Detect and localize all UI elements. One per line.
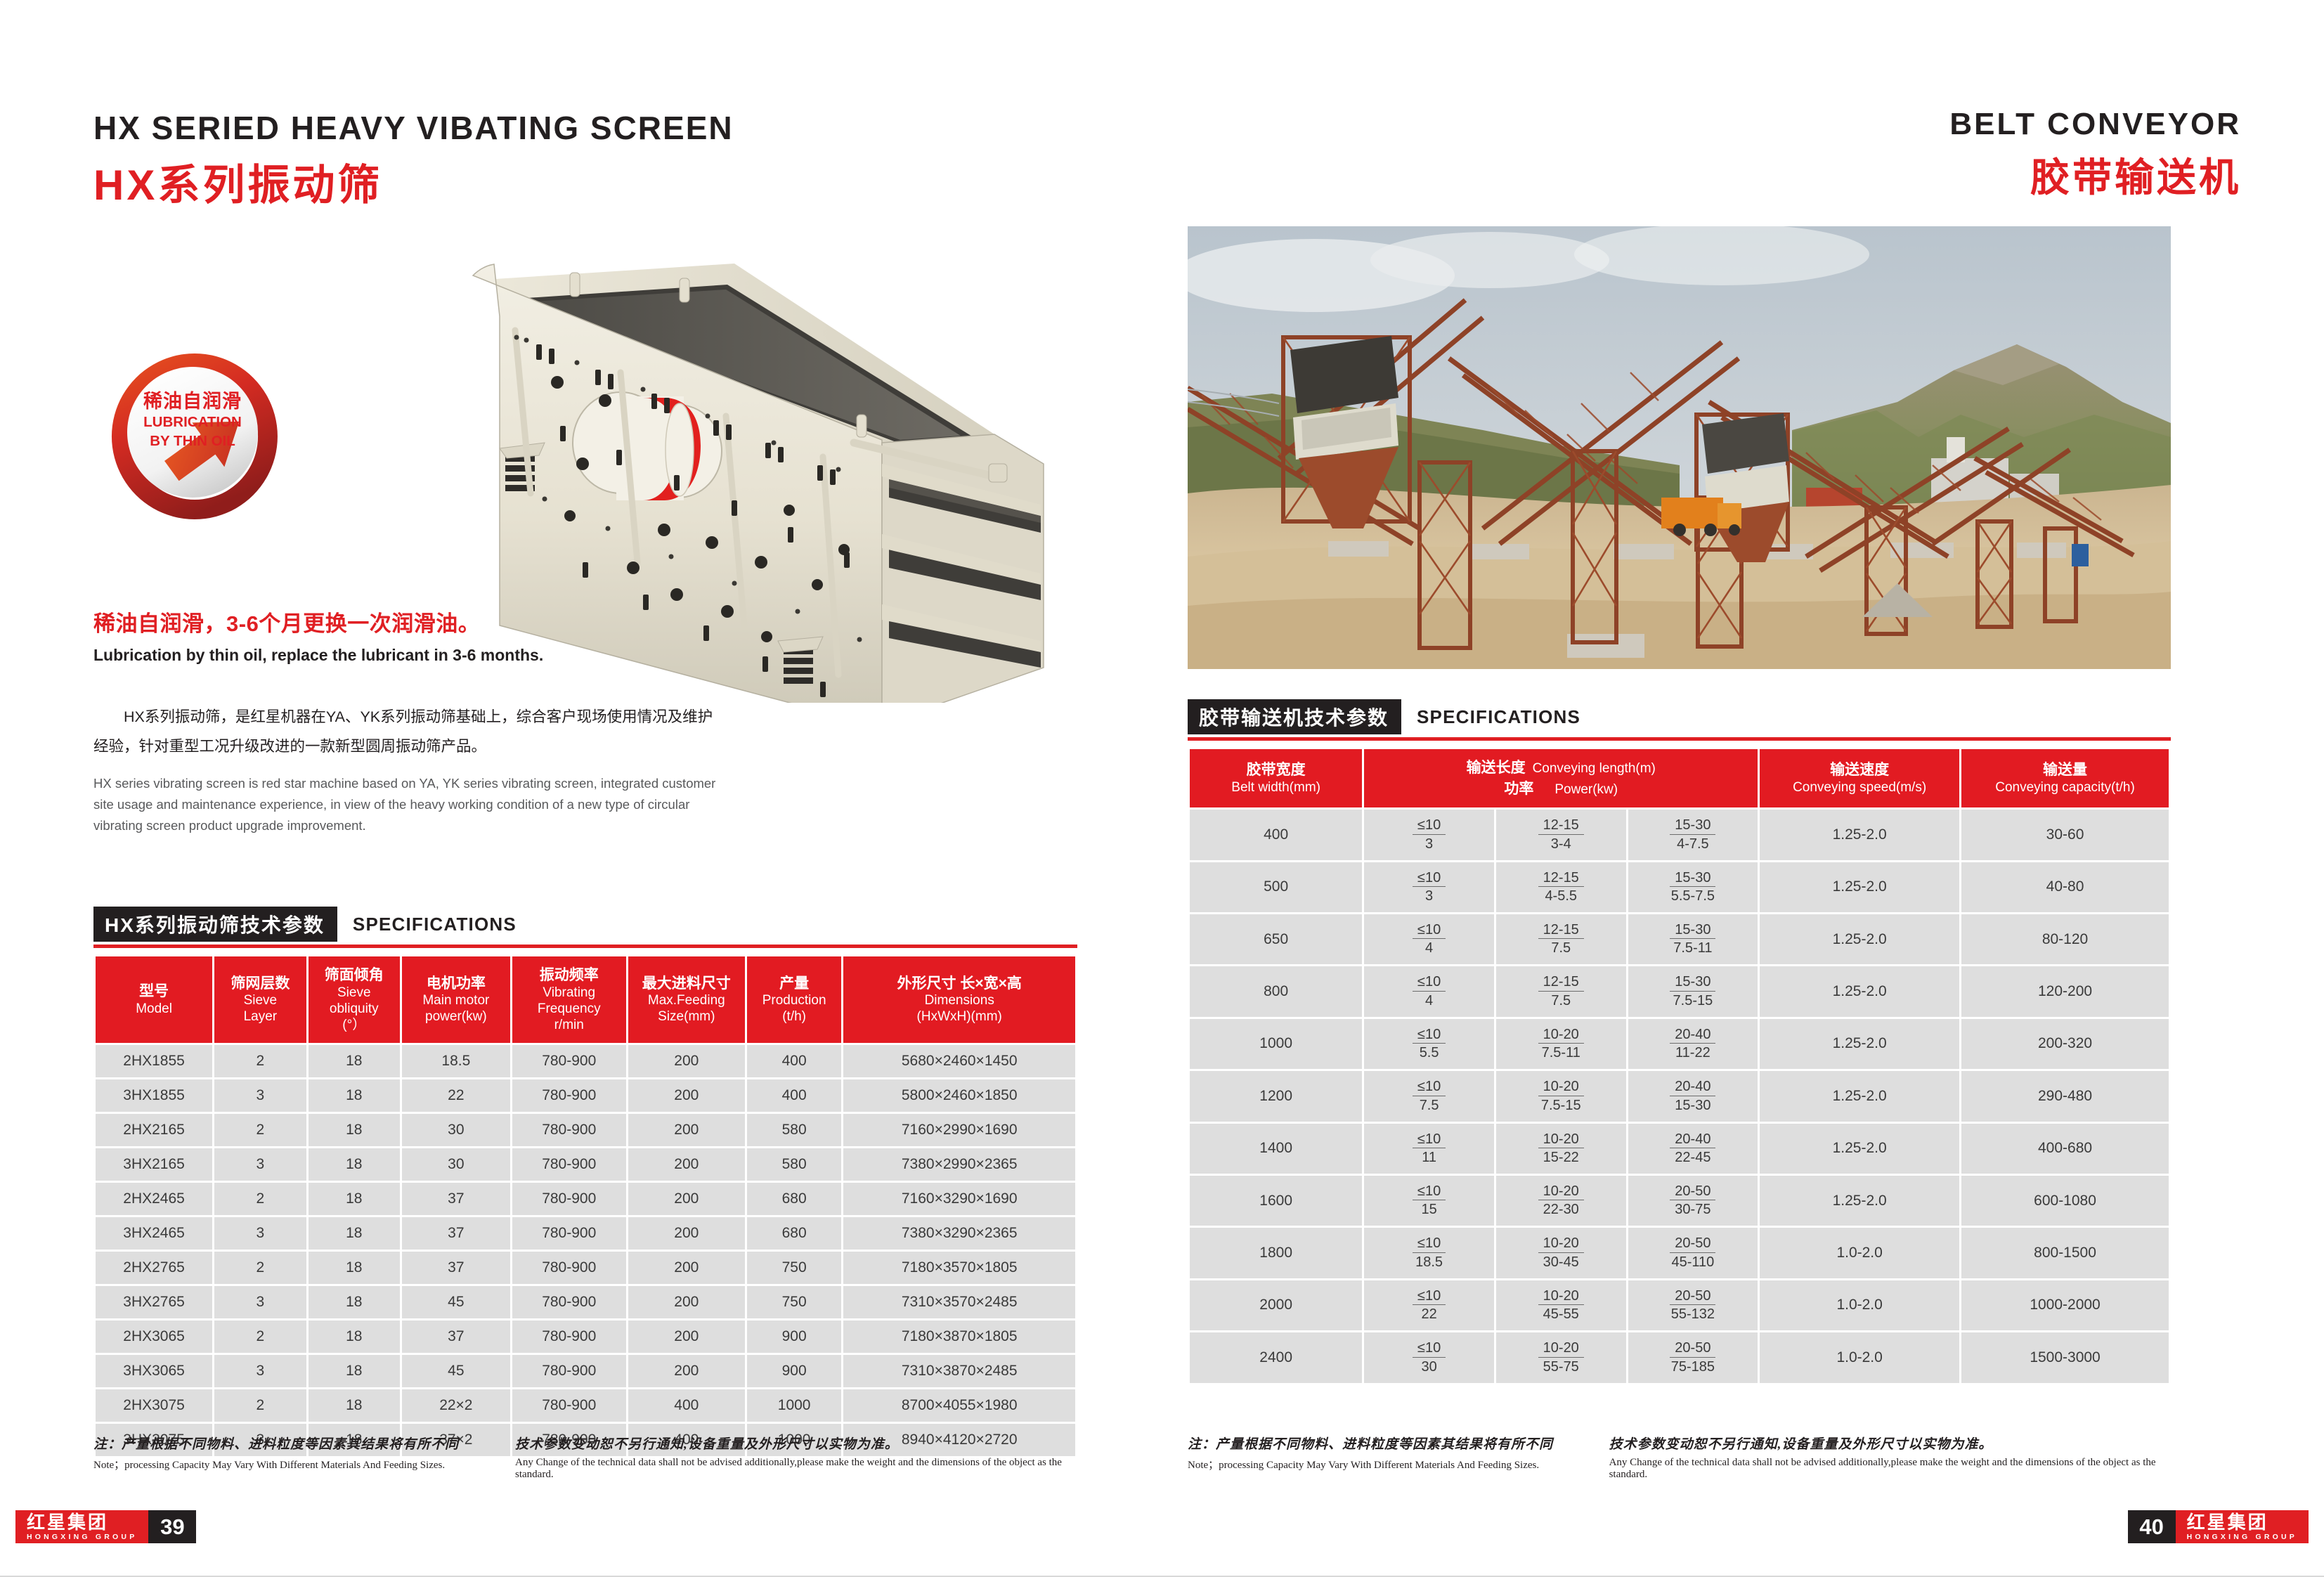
table-cell-capacity: 600-1080	[1961, 1176, 2169, 1226]
table-cell: 900	[747, 1320, 842, 1353]
table-cell: 3	[214, 1148, 306, 1181]
table-body: 400≤10312-153-415-304-7.51.25-2.030-6050…	[1190, 810, 2169, 1382]
col-header-vibrating-frequency: 振动频率 Vibrating Frequency r/min	[512, 956, 626, 1043]
right-page-heading: BELT CONVEYOR 胶带输送机	[1949, 107, 2241, 203]
table-cell: 18.5	[402, 1045, 510, 1077]
table-row: 2400≤103010-2055-7520-5075-1851.0-2.0150…	[1190, 1332, 2169, 1382]
table-cell: 22	[402, 1079, 510, 1112]
table-row: 2HX306521837780-9002009007180×3870×1805	[96, 1320, 1075, 1353]
table-cell: 3HX2165	[96, 1148, 212, 1181]
table-cell: 780-900	[512, 1355, 626, 1387]
table-cell: 18	[309, 1045, 400, 1077]
footer-logo-right: 40 红星集团 HONGXING GROUP	[2128, 1510, 2309, 1543]
table-row: 3HX276531845780-9002007507310×3570×2485	[96, 1286, 1075, 1318]
table-cell-fraction: 20-5075-185	[1628, 1332, 1758, 1382]
table-cell: 7380×2990×2365	[843, 1148, 1075, 1181]
table-row: 800≤10412-157.515-307.5-151.25-2.0120-20…	[1190, 966, 2169, 1016]
section-title-chinese: HX系列振动筛技术参数	[93, 907, 337, 942]
table-cell-fraction: 10-2022-30	[1496, 1176, 1626, 1226]
table-cell-fraction: 20-5045-110	[1628, 1228, 1758, 1278]
table-row: 1200≤107.510-207.5-1520-4015-301.25-2.02…	[1190, 1071, 2169, 1121]
table-body: 2HX185521818.5780-9002004005680×2460×145…	[96, 1045, 1075, 1456]
table-cell: 780-900	[512, 1217, 626, 1250]
belt-conveyor-site-photo	[1188, 226, 2171, 669]
table-cell: 3HX2765	[96, 1286, 212, 1318]
table-cell: 7160×3290×1690	[843, 1183, 1075, 1215]
table-cell: 750	[747, 1252, 842, 1284]
table-cell: 37	[402, 1217, 510, 1250]
table-cell-speed: 1.25-2.0	[1760, 914, 1959, 964]
lubrication-badge: 稀油自润滑 LUBRICATION BY THIN OIL	[105, 348, 285, 524]
table-cell: 200	[628, 1252, 745, 1284]
table-cell-fraction: ≤1015	[1364, 1176, 1494, 1226]
table-cell-belt-width: 1600	[1190, 1176, 1362, 1226]
table-cell-fraction: 10-207.5-15	[1496, 1071, 1626, 1121]
note-technical-data: 技术参数变动恕不另行通知,设备重量及外形尺寸以实物为准。 Any Change …	[1609, 1434, 2171, 1481]
table-header-row: 型号 Model 筛网层数 Sieve Layer 筛面倾角 Sieve obl…	[96, 956, 1075, 1043]
table-cell: 22×2	[402, 1389, 510, 1422]
table-cell: 18	[309, 1252, 400, 1284]
table-cell: 200	[628, 1217, 745, 1250]
section-banner: 胶带输送机技术参数 SPECIFICATIONS	[1188, 699, 2171, 734]
table-cell-fraction: 12-157.5	[1496, 914, 1626, 964]
page-left-vibrating-screen: HX SERIED HEAVY VIBATING SCREEN HX系列振动筛	[0, 0, 1162, 1577]
table-cell-speed: 1.25-2.0	[1760, 1176, 1959, 1226]
note-capacity: 注：产量根据不同物料、进料粒度等因素其结果将有所不同 Note；processi…	[1188, 1434, 1609, 1481]
table-cell-fraction: ≤1030	[1364, 1332, 1494, 1382]
table-cell: 18	[309, 1148, 400, 1181]
table-cell: 18	[309, 1320, 400, 1353]
table-row: 400≤10312-153-415-304-7.51.25-2.030-60	[1190, 810, 2169, 859]
belt-conveyor-spec-table: 胶带宽度 Belt width(mm) 输送长度 Conveying lengt…	[1188, 747, 2171, 1385]
table-cell: 2	[214, 1252, 306, 1284]
table-cell: 780-900	[512, 1114, 626, 1146]
table-header-row: 胶带宽度 Belt width(mm) 输送长度 Conveying lengt…	[1190, 749, 2169, 807]
col-header-max-feeding-size: 最大进料尺寸 Max.Feeding Size(mm)	[628, 956, 745, 1043]
table-cell: 18	[309, 1079, 400, 1112]
table-cell: 1000	[747, 1389, 842, 1422]
table-cell-belt-width: 500	[1190, 862, 1362, 912]
table-cell-fraction: 10-2015-22	[1496, 1124, 1626, 1174]
slogan-english: Lubrication by thin oil, replace the lub…	[93, 646, 761, 665]
table-cell-speed: 1.0-2.0	[1760, 1280, 1959, 1330]
right-notes: 注：产量根据不同物料、进料粒度等因素其结果将有所不同 Note；processi…	[1188, 1434, 2171, 1481]
table-cell-capacity: 1000-2000	[1961, 1280, 2169, 1330]
table-cell-fraction: 10-2055-75	[1496, 1332, 1626, 1382]
page-right-belt-conveyor: BELT CONVEYOR 胶带输送机	[1162, 0, 2324, 1577]
table-cell: 18	[309, 1355, 400, 1387]
table-cell: 200	[628, 1148, 745, 1181]
table-cell-fraction: 10-2045-55	[1496, 1280, 1626, 1330]
table-cell: 37	[402, 1320, 510, 1353]
table-cell: 7310×3870×2485	[843, 1355, 1075, 1387]
table-cell: 2	[214, 1320, 306, 1353]
table-cell: 18	[309, 1217, 400, 1250]
table-cell-fraction: ≤104	[1364, 966, 1494, 1016]
table-cell: 2HX2765	[96, 1252, 212, 1284]
table-cell: 8700×4055×1980	[843, 1389, 1075, 1422]
table-cell-belt-width: 400	[1190, 810, 1362, 859]
table-row: 2HX276521837780-9002007507180×3570×1805	[96, 1252, 1075, 1284]
table-cell-fraction: ≤107.5	[1364, 1071, 1494, 1121]
table-cell-speed: 1.0-2.0	[1760, 1332, 1959, 1382]
table-cell-belt-width: 1000	[1190, 1019, 1362, 1069]
table-cell: 400	[628, 1389, 745, 1422]
table-cell-belt-width: 2400	[1190, 1332, 1362, 1382]
table-cell: 2HX3075	[96, 1389, 212, 1422]
section-title-english: SPECIFICATIONS	[337, 907, 517, 942]
table-cell: 3	[214, 1355, 306, 1387]
col-header-conveying-capacity: 输送量 Conveying capacity(t/h)	[1961, 749, 2169, 807]
right-spec-section: 胶带输送机技术参数 SPECIFICATIONS 胶带宽度 Belt width…	[1188, 699, 2171, 1385]
description-chinese: HX系列振动筛，是红星机器在YA、YK系列振动筛基础上，综合客户现场使用情况及维…	[93, 703, 726, 762]
table-cell: 200	[628, 1114, 745, 1146]
table-cell: 37	[402, 1252, 510, 1284]
table-cell: 200	[628, 1355, 745, 1387]
col-header-production: 产量 Production (t/h)	[747, 956, 842, 1043]
table-cell: 2HX2465	[96, 1183, 212, 1215]
table-cell-fraction: 10-207.5-11	[1496, 1019, 1626, 1069]
table-cell-capacity: 1500-3000	[1961, 1332, 2169, 1382]
table-cell-fraction: 20-4011-22	[1628, 1019, 1758, 1069]
table-cell: 45	[402, 1286, 510, 1318]
table-cell: 7160×2990×1690	[843, 1114, 1075, 1146]
table-cell: 2HX2165	[96, 1114, 212, 1146]
table-row: 2HX216521830780-9002005807160×2990×1690	[96, 1114, 1075, 1146]
table-cell-fraction: ≤1018.5	[1364, 1228, 1494, 1278]
table-cell: 30	[402, 1148, 510, 1181]
table-row: 2HX185521818.5780-9002004005680×2460×145…	[96, 1045, 1075, 1077]
table-cell: 7380×3290×2365	[843, 1217, 1075, 1250]
table-cell: 780-900	[512, 1183, 626, 1215]
table-cell: 37	[402, 1183, 510, 1215]
table-cell: 580	[747, 1148, 842, 1181]
section-title-chinese: 胶带输送机技术参数	[1188, 699, 1401, 734]
vibrating-screen-spec-table: 型号 Model 筛网层数 Sieve Layer 筛面倾角 Sieve obl…	[93, 954, 1077, 1458]
table-row: 1800≤1018.510-2030-4520-5045-1101.0-2.08…	[1190, 1228, 2169, 1278]
table-cell-fraction: ≤104	[1364, 914, 1494, 964]
table-cell: 2HX1855	[96, 1045, 212, 1077]
page-title-chinese: HX系列振动筛	[93, 151, 734, 212]
table-cell: 3HX1855	[96, 1079, 212, 1112]
table-cell-fraction: 20-5030-75	[1628, 1176, 1758, 1226]
table-cell: 3	[214, 1286, 306, 1318]
table-cell: 3	[214, 1217, 306, 1250]
page-number: 40	[2128, 1510, 2176, 1543]
catalog-spread: HX SERIED HEAVY VIBATING SCREEN HX系列振动筛	[0, 0, 2324, 1577]
table-cell-fraction: 12-157.5	[1496, 966, 1626, 1016]
page-title-english: BELT CONVEYOR	[1949, 107, 2241, 142]
table-row: 650≤10412-157.515-307.5-111.25-2.080-120	[1190, 914, 2169, 964]
table-cell-fraction: ≤105.5	[1364, 1019, 1494, 1069]
table-cell: 200	[628, 1183, 745, 1215]
table-cell: 18	[309, 1389, 400, 1422]
table-cell-capacity: 30-60	[1961, 810, 2169, 859]
table-cell: 400	[747, 1045, 842, 1077]
table-cell-belt-width: 1200	[1190, 1071, 1362, 1121]
table-cell: 30	[402, 1114, 510, 1146]
table-cell: 200	[628, 1286, 745, 1318]
left-notes: 注：产量根据不同物料、进料粒度等因素其结果将有所不同 Note；processi…	[93, 1434, 1077, 1481]
col-header-sieve-layer: 筛网层数 Sieve Layer	[214, 956, 306, 1043]
table-cell: 2	[214, 1045, 306, 1077]
table-cell-fraction: 12-153-4	[1496, 810, 1626, 859]
table-cell-speed: 1.25-2.0	[1760, 1071, 1959, 1121]
description-english: HX series vibrating screen is red star m…	[93, 773, 736, 836]
table-cell: 7180×3870×1805	[843, 1320, 1075, 1353]
table-cell: 580	[747, 1114, 842, 1146]
table-row: 1400≤101110-2015-2220-4022-451.25-2.0400…	[1190, 1124, 2169, 1174]
table-row: 2HX246521837780-9002006807160×3290×1690	[96, 1183, 1075, 1215]
page-title-english: HX SERIED HEAVY VIBATING SCREEN	[93, 109, 734, 147]
table-cell-fraction: 10-2030-45	[1496, 1228, 1626, 1278]
table-row: 3HX185531822780-9002004005800×2460×1850	[96, 1079, 1075, 1112]
table-cell-speed: 1.0-2.0	[1760, 1228, 1959, 1278]
table-cell: 780-900	[512, 1079, 626, 1112]
table-cell: 200	[628, 1079, 745, 1112]
table-cell-fraction: 12-154-5.5	[1496, 862, 1626, 912]
table-row: 3HX246531837780-9002006807380×3290×2365	[96, 1217, 1075, 1250]
table-cell: 3HX3065	[96, 1355, 212, 1387]
col-header-main-motor-power: 电机功率 Main motor power(kw)	[402, 956, 510, 1043]
section-title-english: SPECIFICATIONS	[1401, 699, 1580, 734]
table-cell: 780-900	[512, 1252, 626, 1284]
table-cell: 3	[214, 1079, 306, 1112]
table-cell-capacity: 40-80	[1961, 862, 2169, 912]
table-cell-belt-width: 800	[1190, 966, 1362, 1016]
table-cell-capacity: 400-680	[1961, 1124, 2169, 1174]
table-cell-fraction: ≤1022	[1364, 1280, 1494, 1330]
table-cell: 18	[309, 1114, 400, 1146]
table-cell: 780-900	[512, 1045, 626, 1077]
slogan-chinese: 稀油自润滑，3-6个月更换一次润滑油。	[93, 606, 761, 637]
table-cell: 45	[402, 1355, 510, 1387]
table-row: 1000≤105.510-207.5-1120-4011-221.25-2.02…	[1190, 1019, 2169, 1069]
table-cell-speed: 1.25-2.0	[1760, 966, 1959, 1016]
table-cell-belt-width: 2000	[1190, 1280, 1362, 1330]
table-cell-fraction: 15-307.5-11	[1628, 914, 1758, 964]
col-header-dimensions: 外形尺寸 长×宽×高 Dimensions (HxWxH)(mm)	[843, 956, 1075, 1043]
table-cell: 2	[214, 1389, 306, 1422]
col-header-conveying-length-power: 输送长度 Conveying length(m) 功率 Power(kw)	[1364, 749, 1758, 807]
table-cell: 200	[628, 1320, 745, 1353]
table-row: 1600≤101510-2022-3020-5030-751.25-2.0600…	[1190, 1176, 2169, 1226]
brand-logo: 红星集团 HONGXING GROUP	[2176, 1510, 2309, 1543]
table-cell-capacity: 200-320	[1961, 1019, 2169, 1069]
table-cell: 780-900	[512, 1320, 626, 1353]
note-technical-data: 技术参数变动恕不另行通知,设备重量及外形尺寸以实物为准。 Any Change …	[515, 1434, 1077, 1481]
table-row: 3HX216531830780-9002005807380×2990×2365	[96, 1148, 1075, 1181]
table-cell: 900	[747, 1355, 842, 1387]
table-row: 3HX306531845780-9002009007310×3870×2485	[96, 1355, 1075, 1387]
col-header-sieve-obliquity: 筛面倾角 Sieve obliquity (°）	[309, 956, 400, 1043]
table-cell: 5680×2460×1450	[843, 1045, 1075, 1077]
table-cell-capacity: 120-200	[1961, 966, 2169, 1016]
table-cell: 5800×2460×1850	[843, 1079, 1075, 1112]
table-cell: 780-900	[512, 1148, 626, 1181]
table-cell: 780-900	[512, 1389, 626, 1422]
section-rule	[93, 945, 1077, 948]
circular-arrow-icon	[105, 348, 285, 524]
table-cell: 18	[309, 1183, 400, 1215]
col-header-belt-width: 胶带宽度 Belt width(mm)	[1190, 749, 1362, 807]
table-cell-speed: 1.25-2.0	[1760, 1124, 1959, 1174]
table-cell-fraction: 15-307.5-15	[1628, 966, 1758, 1016]
section-banner: HX系列振动筛技术参数 SPECIFICATIONS	[93, 907, 1077, 942]
table-cell: 750	[747, 1286, 842, 1318]
table-cell-fraction: ≤103	[1364, 810, 1494, 859]
table-cell: 200	[628, 1045, 745, 1077]
table-row: 500≤10312-154-5.515-305.5-7.51.25-2.040-…	[1190, 862, 2169, 912]
table-cell: 7310×3570×2485	[843, 1286, 1075, 1318]
table-cell: 7180×3570×1805	[843, 1252, 1075, 1284]
table-cell: 2HX3065	[96, 1320, 212, 1353]
table-cell: 680	[747, 1183, 842, 1215]
page-title-chinese: 胶带输送机	[1949, 146, 2241, 203]
table-cell: 2	[214, 1183, 306, 1215]
table-cell-fraction: 15-305.5-7.5	[1628, 862, 1758, 912]
brand-logo: 红星集团 HONGXING GROUP	[15, 1510, 148, 1543]
col-header-conveying-speed: 输送速度 Conveying speed(m/s)	[1760, 749, 1959, 807]
table-cell-speed: 1.25-2.0	[1760, 862, 1959, 912]
table-cell-capacity: 80-120	[1961, 914, 2169, 964]
left-spec-section: HX系列振动筛技术参数 SPECIFICATIONS 型号 Model	[93, 907, 1077, 1458]
table-cell-belt-width: 1800	[1190, 1228, 1362, 1278]
table-cell: 780-900	[512, 1286, 626, 1318]
table-cell-speed: 1.25-2.0	[1760, 810, 1959, 859]
table-cell-belt-width: 1400	[1190, 1124, 1362, 1174]
footer-logo-left: 红星集团 HONGXING GROUP 39	[15, 1510, 196, 1543]
page-number: 39	[148, 1510, 196, 1543]
table-cell: 400	[747, 1079, 842, 1112]
table-cell: 2	[214, 1114, 306, 1146]
table-cell-fraction: ≤103	[1364, 862, 1494, 912]
table-cell-speed: 1.25-2.0	[1760, 1019, 1959, 1069]
table-cell-fraction: 20-4022-45	[1628, 1124, 1758, 1174]
col-header-model: 型号 Model	[96, 956, 212, 1043]
table-cell-fraction: ≤1011	[1364, 1124, 1494, 1174]
table-row: 2HX307521822×2780-90040010008700×4055×19…	[96, 1389, 1075, 1422]
left-page-heading: HX SERIED HEAVY VIBATING SCREEN HX系列振动筛	[93, 109, 734, 212]
note-capacity: 注：产量根据不同物料、进料粒度等因素其结果将有所不同 Note；processi…	[93, 1434, 515, 1481]
slogan: 稀油自润滑，3-6个月更换一次润滑油。 Lubrication by thin …	[93, 606, 761, 665]
table-cell-fraction: 20-5055-132	[1628, 1280, 1758, 1330]
table-cell: 680	[747, 1217, 842, 1250]
table-cell: 3HX2465	[96, 1217, 212, 1250]
table-row: 2000≤102210-2045-5520-5055-1321.0-2.0100…	[1190, 1280, 2169, 1330]
table-cell-capacity: 800-1500	[1961, 1228, 2169, 1278]
section-rule	[1188, 737, 2171, 741]
table-cell-fraction: 20-4015-30	[1628, 1071, 1758, 1121]
table-cell-fraction: 15-304-7.5	[1628, 810, 1758, 859]
table-cell: 18	[309, 1286, 400, 1318]
table-cell-belt-width: 650	[1190, 914, 1362, 964]
table-cell-capacity: 290-480	[1961, 1071, 2169, 1121]
